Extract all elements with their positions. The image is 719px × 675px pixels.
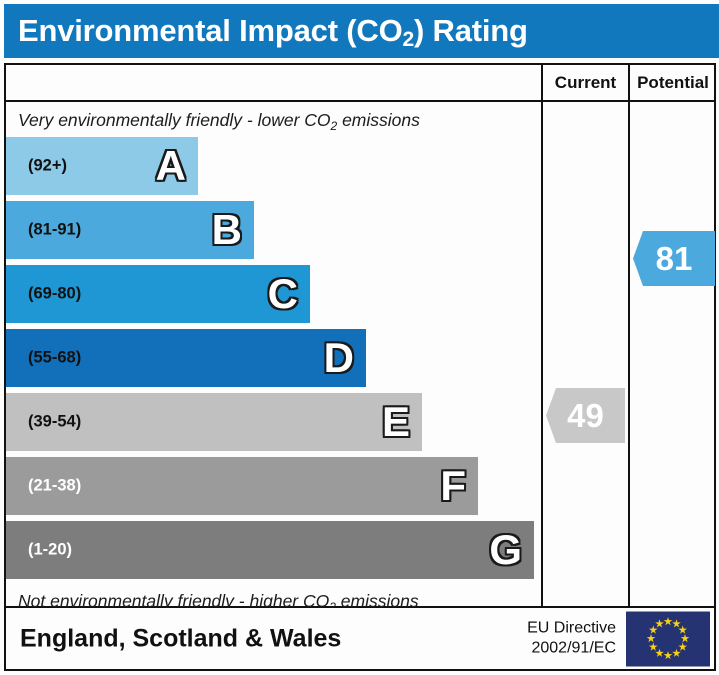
epc-environmental-impact-chart: Environmental Impact (CO2) Rating Curren… xyxy=(0,0,719,675)
band-range-label: (92+) xyxy=(28,157,67,176)
eu-flag-star xyxy=(672,649,681,658)
band-range-label: (81-91) xyxy=(28,221,81,240)
band-letter-a: A xyxy=(156,145,186,187)
current-rating-marker: 49 xyxy=(546,388,625,443)
rating-band-f: (21-38)F xyxy=(6,457,478,515)
page-title-subscript: 2 xyxy=(403,28,414,51)
page-title-suffix: ) Rating xyxy=(414,13,528,48)
band-letter-b: B xyxy=(212,209,242,251)
band-range-label: (55-68) xyxy=(28,349,81,368)
chart-title-bar: Environmental Impact (CO2) Rating xyxy=(4,4,719,58)
band-range-label: (39-54) xyxy=(28,413,81,432)
potential-rating-marker: 81 xyxy=(633,231,715,286)
rating-band-g: (1-20)G xyxy=(6,521,534,579)
eu-flag-star xyxy=(649,626,658,635)
eu-directive-label: EU Directive 2002/91/EC xyxy=(527,618,616,659)
page-title-prefix: Environmental Impact (CO xyxy=(18,13,403,48)
potential-column-divider xyxy=(628,63,630,608)
band-letter-f: F xyxy=(440,465,466,507)
band-range-label: (1-20) xyxy=(28,541,72,560)
current-column-divider xyxy=(541,63,543,608)
eu-flag-star xyxy=(655,649,664,658)
rating-band-b: (81-91)B xyxy=(6,201,254,259)
eu-directive-line1: EU Directive xyxy=(527,618,616,638)
band-letter-g: G xyxy=(489,529,522,571)
band-letter-c: C xyxy=(268,273,298,315)
eu-flag-star xyxy=(664,651,673,660)
eu-flag-star xyxy=(672,619,681,628)
region-label: England, Scotland & Wales xyxy=(20,624,341,653)
current-column-header: Current xyxy=(543,66,628,100)
band-range-label: (69-80) xyxy=(28,285,81,304)
eu-flag-star xyxy=(655,619,664,628)
eu-flag-star xyxy=(647,634,656,643)
eu-directive-line2: 2002/91/EC xyxy=(527,639,616,659)
band-letter-e: E xyxy=(382,401,410,443)
band-range-label: (21-38) xyxy=(28,477,81,496)
top-caption: Very environmentally friendly - lower CO… xyxy=(18,110,420,131)
rating-band-d: (55-68)D xyxy=(6,329,366,387)
top-caption-subscript: 2 xyxy=(331,119,338,133)
top-caption-suffix: emissions xyxy=(337,110,420,130)
chart-footer: England, Scotland & Wales EU Directive 2… xyxy=(4,608,716,671)
eu-flag-star xyxy=(678,643,687,652)
eu-flag-star xyxy=(664,617,673,626)
eu-flag-star xyxy=(681,634,690,643)
rating-band-a: (92+)A xyxy=(6,137,198,195)
rating-band-c: (69-80)C xyxy=(6,265,310,323)
eu-flag-star xyxy=(649,643,658,652)
header-separator xyxy=(4,100,716,102)
page-title: Environmental Impact (CO2) Rating xyxy=(18,13,528,49)
band-letter-d: D xyxy=(324,337,354,379)
eu-flag-star xyxy=(678,626,687,635)
eu-flag-icon xyxy=(626,611,710,666)
top-caption-prefix: Very environmentally friendly - lower CO xyxy=(18,110,331,130)
potential-column-header: Potential xyxy=(630,66,716,100)
rating-band-e: (39-54)E xyxy=(6,393,422,451)
